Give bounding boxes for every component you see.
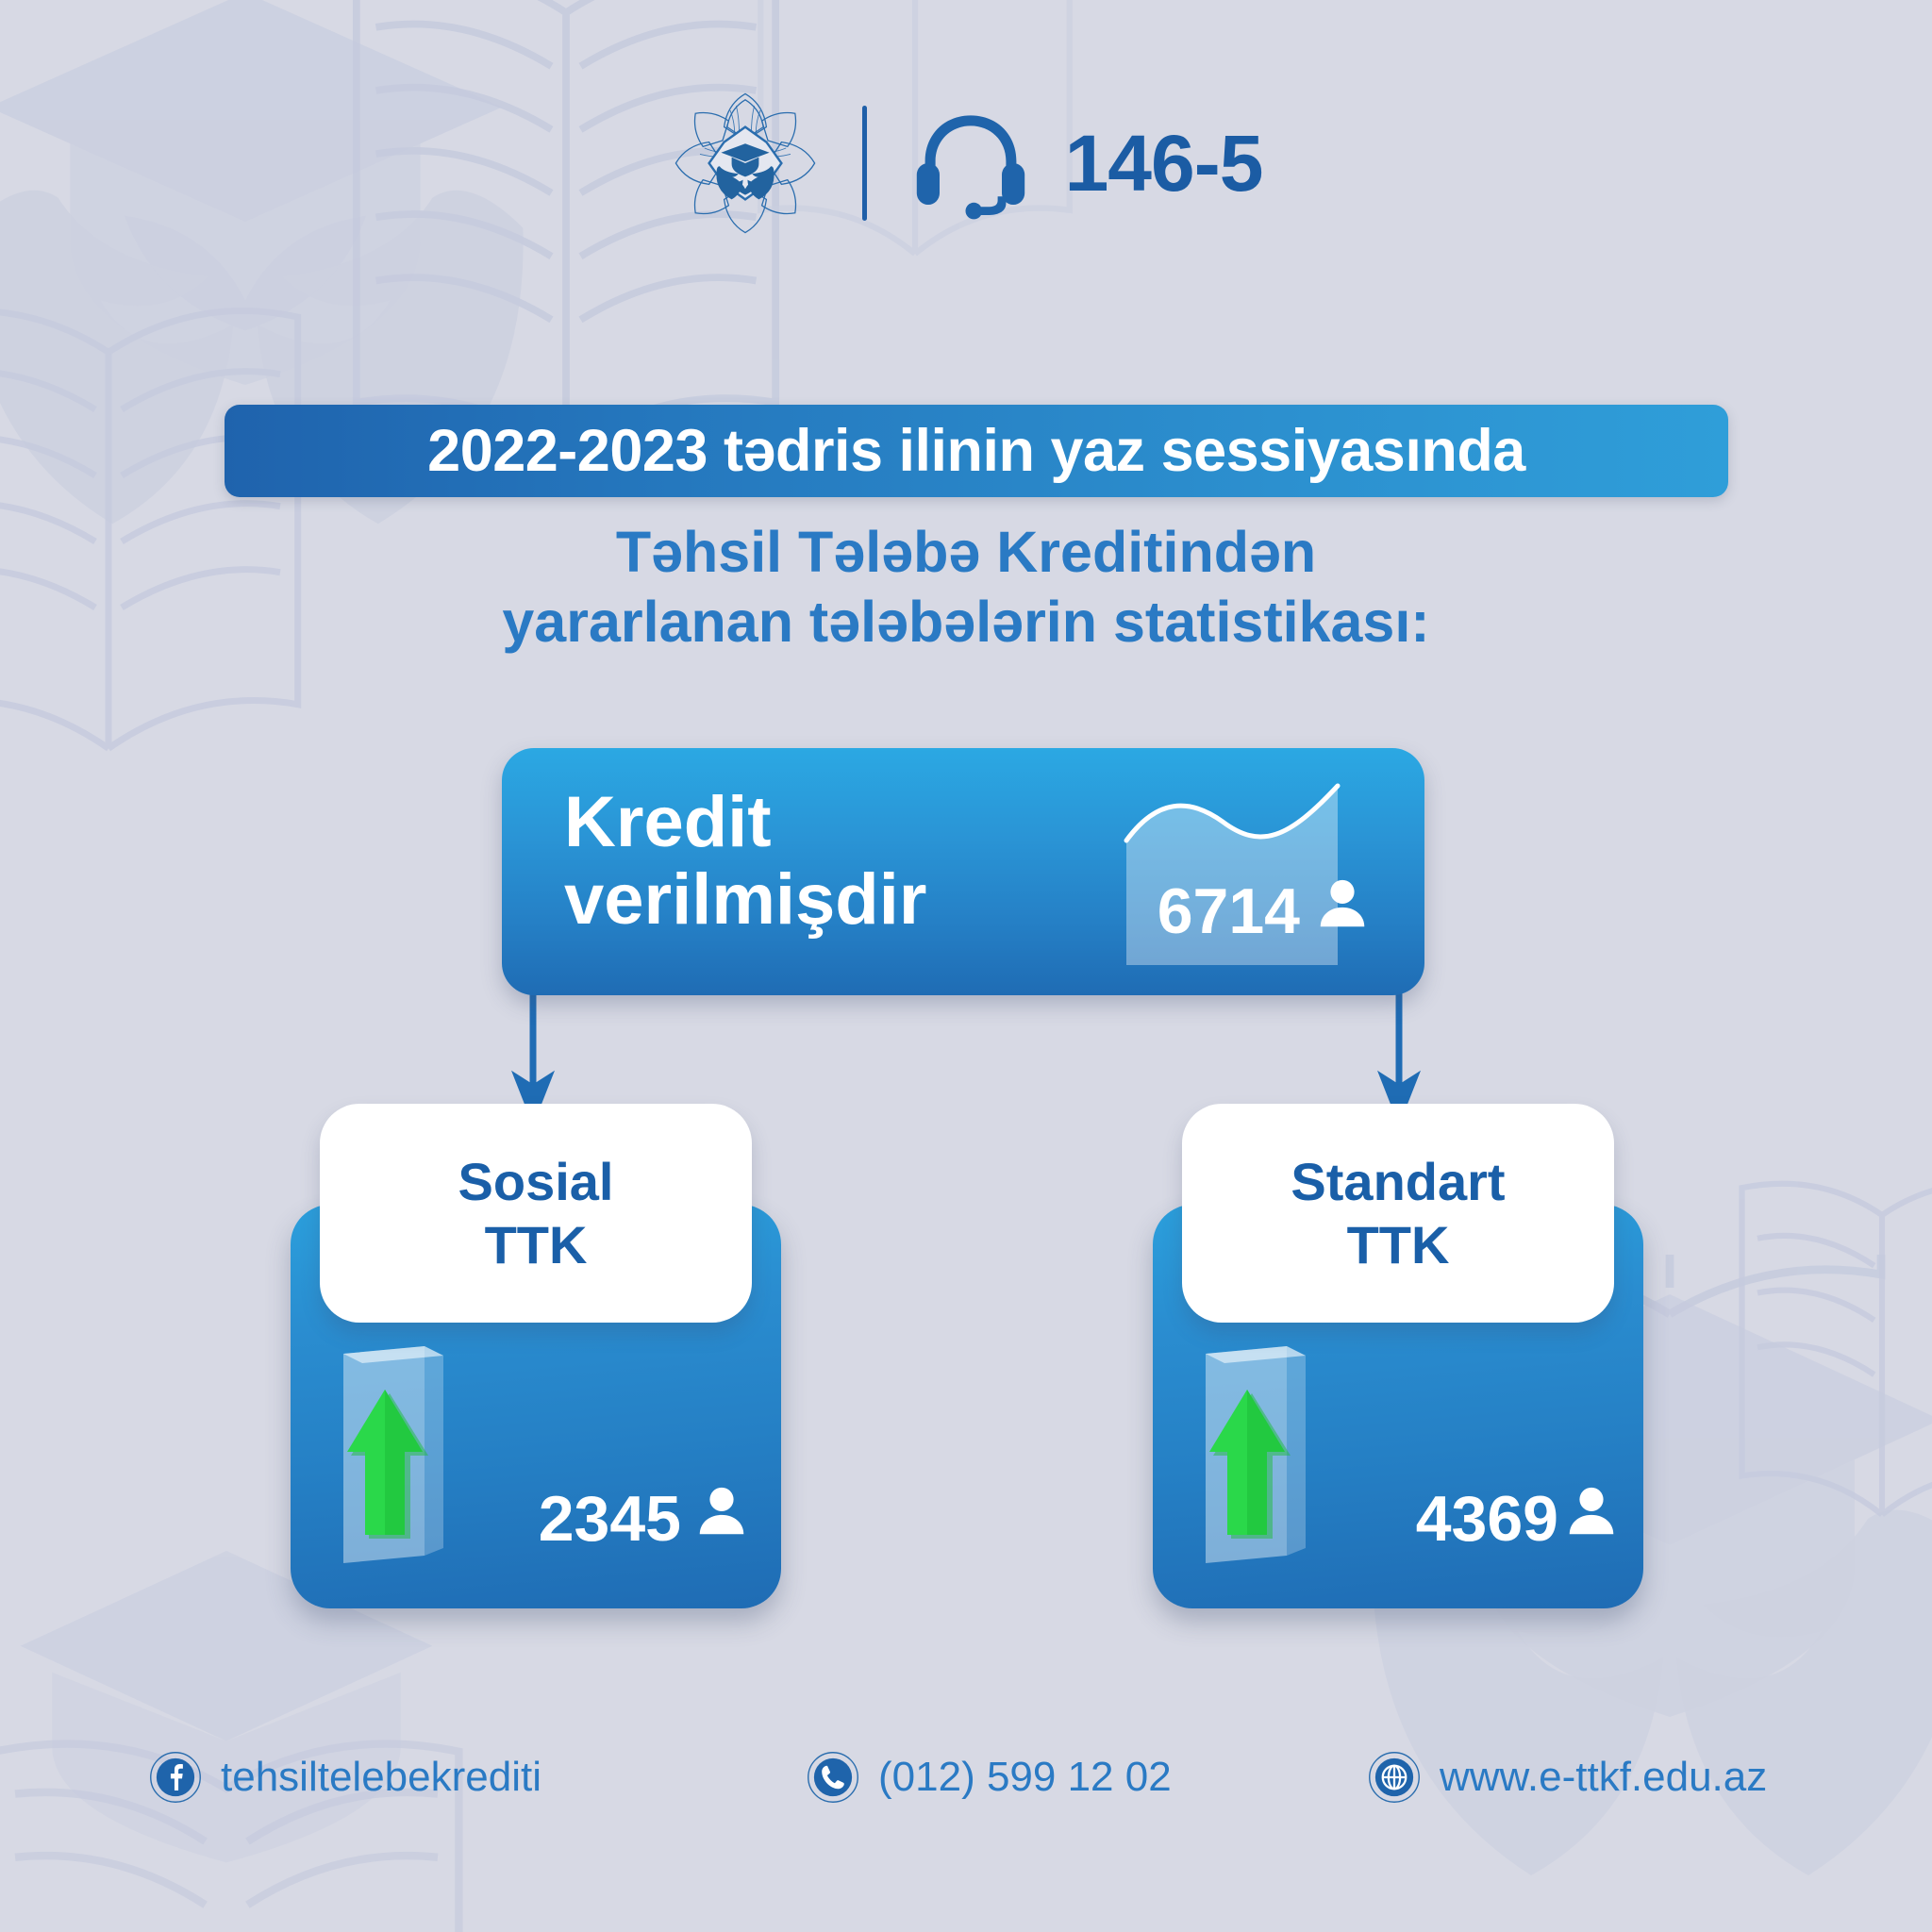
- stat-count-value-sosial: 2345: [539, 1482, 681, 1556]
- kredit-verilmisdir-box: Kredit verilmişdir 6714: [502, 748, 1424, 995]
- person-icon: [692, 1482, 751, 1556]
- green-up-arrow-icon: [1200, 1344, 1311, 1569]
- kredit-count-value: 6714: [1158, 874, 1300, 948]
- hotline-number: 146-5: [1065, 124, 1263, 203]
- stat-count-group-sosial: 2345: [539, 1482, 751, 1556]
- stat-count-value-standart: 4369: [1416, 1482, 1558, 1556]
- stat-card-label-standart-line-2: TTK: [1347, 1213, 1450, 1276]
- stat-count-group-standart: 4369: [1416, 1482, 1621, 1556]
- stat-card-label-standart-line-1: Standart: [1291, 1150, 1505, 1213]
- title-banner: 2022-2023 tədris ilinin yaz sessiyasında: [225, 405, 1728, 497]
- ttkf-education-emblem-icon: [670, 88, 821, 239]
- kredit-label-line-1: Kredit: [564, 784, 926, 861]
- contact-phone[interactable]: (012) 599 12 02: [807, 1751, 1172, 1804]
- facebook-icon: [149, 1751, 202, 1804]
- globe-icon: [1368, 1751, 1421, 1804]
- stat-card-label-standart: Standart TTK: [1182, 1104, 1614, 1323]
- person-icon: [1562, 1482, 1621, 1556]
- stat-card-label-sosial-line-1: Sosial: [458, 1150, 614, 1213]
- title-banner-text: 2022-2023 tədris ilinin yaz sessiyasında: [427, 417, 1525, 485]
- connector-arrows: [0, 981, 1932, 1160]
- footer-contacts: tehsiltelebekrediti (012) 599 12 02: [0, 1751, 1932, 1823]
- green-up-arrow-icon: [338, 1344, 449, 1569]
- subtitle-line-2: yararlanan tələbələrin statistikası:: [0, 587, 1932, 657]
- kredit-label: Kredit verilmişdir: [564, 784, 926, 939]
- subtitle-line-1: Təhsil Tələbə Kreditindən: [0, 517, 1932, 587]
- kredit-count-group: 6714: [1158, 874, 1372, 948]
- contact-website[interactable]: www.e-ttkf.edu.az: [1368, 1751, 1767, 1804]
- phone-icon: [807, 1751, 859, 1804]
- header-divider: [862, 106, 867, 221]
- infographic-page: 146-5 2022-2023 tədris ilinin yaz sessiy…: [0, 0, 1932, 1932]
- contact-facebook[interactable]: tehsiltelebekrediti: [149, 1751, 541, 1804]
- stat-card-label-sosial: Sosial TTK: [320, 1104, 752, 1323]
- person-icon: [1313, 874, 1372, 948]
- stat-card-label-sosial-line-2: TTK: [485, 1213, 588, 1276]
- kredit-label-line-2: verilmişdir: [564, 861, 926, 939]
- contact-facebook-text: tehsiltelebekrediti: [221, 1754, 541, 1801]
- subtitle: Təhsil Tələbə Kreditindən yararlanan təl…: [0, 517, 1932, 658]
- header: 146-5: [0, 83, 1932, 243]
- headset-icon: [908, 101, 1033, 225]
- contact-website-text: www.e-ttkf.edu.az: [1440, 1754, 1767, 1801]
- watermark-book-rightedge: [1726, 1141, 1932, 1538]
- contact-phone-text: (012) 599 12 02: [878, 1754, 1172, 1801]
